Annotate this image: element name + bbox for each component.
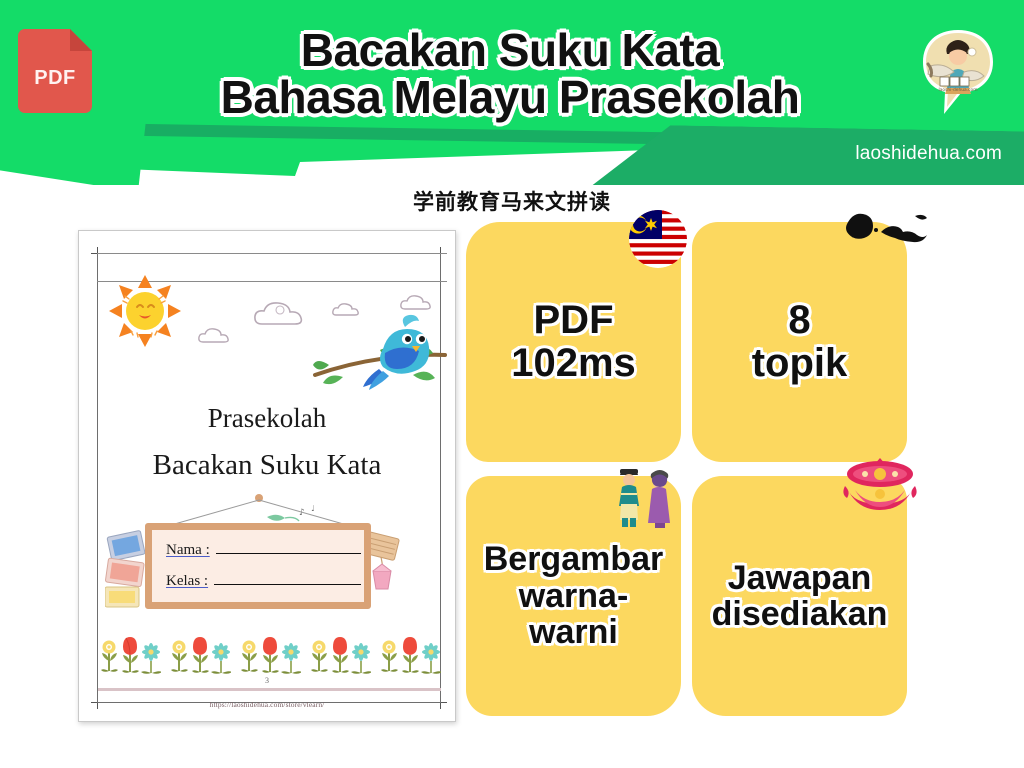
title-line-1: Bacakan Suku Kata [150,27,870,74]
field-kelas-line[interactable] [214,572,361,585]
student-info-board: Nama : Kelas : [145,523,371,609]
logo-brand-url-text: laoshi-dehua.com [939,87,978,93]
feature-cards-grid: PDF 102ms 8 topik [466,222,1011,730]
bird-on-branch-icon [309,303,449,393]
site-url-text: laoshidehua.com [855,143,1002,165]
cloud-icon [197,326,237,351]
malay-couple-icon [611,458,677,530]
feature-card-topics[interactable]: 8 topik [692,222,907,462]
worksheet-title-2: Bacakan Suku Kata [79,449,455,482]
flower-group-icon [169,631,231,677]
header-banner: PDF Bacakan Suku Kata Bahasa Melayu Pras… [0,0,1024,185]
worksheet-title-1: Prasekolah [79,403,455,434]
feature-card-colorful[interactable]: Bergambar warna- warni [466,476,681,716]
feature-card-colorful-label: Bergambar warna- warni [484,541,664,650]
worksheet-footer-url: https://laoshidehua.com/store/vlearn/ [79,700,455,709]
flower-group-icon [239,631,301,677]
brand-logo-icon: laoshi-dehua.com [920,28,996,116]
flower-border [99,631,441,677]
worksheet-preview[interactable]: Prasekolah Bacakan Suku Kata ♪ ♩ Nama : … [78,230,456,722]
malay-ornament-icon [839,454,921,520]
feature-card-answers[interactable]: Jawapan disediakan [692,476,907,716]
title-line-2: Bahasa Melayu Prasekolah [150,74,870,121]
feature-card-answers-label: Jawapan disediakan [712,560,888,633]
worksheet-rule-top [97,253,447,254]
svg-text:♩: ♩ [311,504,315,513]
subtitle-chinese: 学前教育马来文拼读 [0,186,1024,216]
field-kelas-label: Kelas : [166,573,208,590]
pdf-file-icon: PDF [18,29,92,113]
feature-card-pdf-pages-label: PDF 102ms [511,299,636,385]
flower-group-icon [99,631,161,677]
field-nama-label: Nama : [166,542,210,559]
field-kelas[interactable]: Kelas : [166,572,361,590]
worksheet-footer-rule [98,688,441,691]
pdf-fold-corner [70,29,92,51]
feature-card-topics-label: 8 topik [752,299,848,385]
worksheet-page-number: 3 [79,676,455,685]
malaysia-flag-icon [629,210,687,268]
cloud-icon [253,299,315,334]
pdf-icon-label: PDF [18,67,92,90]
field-nama[interactable]: Nama : [166,541,361,559]
flower-group-icon [379,631,441,677]
feature-card-pdf-pages[interactable]: PDF 102ms [466,222,681,462]
page-title: Bacakan Suku Kata Bahasa Melayu Prasekol… [150,27,870,121]
field-nama-line[interactable] [216,541,361,554]
sun-icon [107,273,183,349]
svg-text:♪: ♪ [299,508,305,518]
flower-group-icon [309,631,371,677]
